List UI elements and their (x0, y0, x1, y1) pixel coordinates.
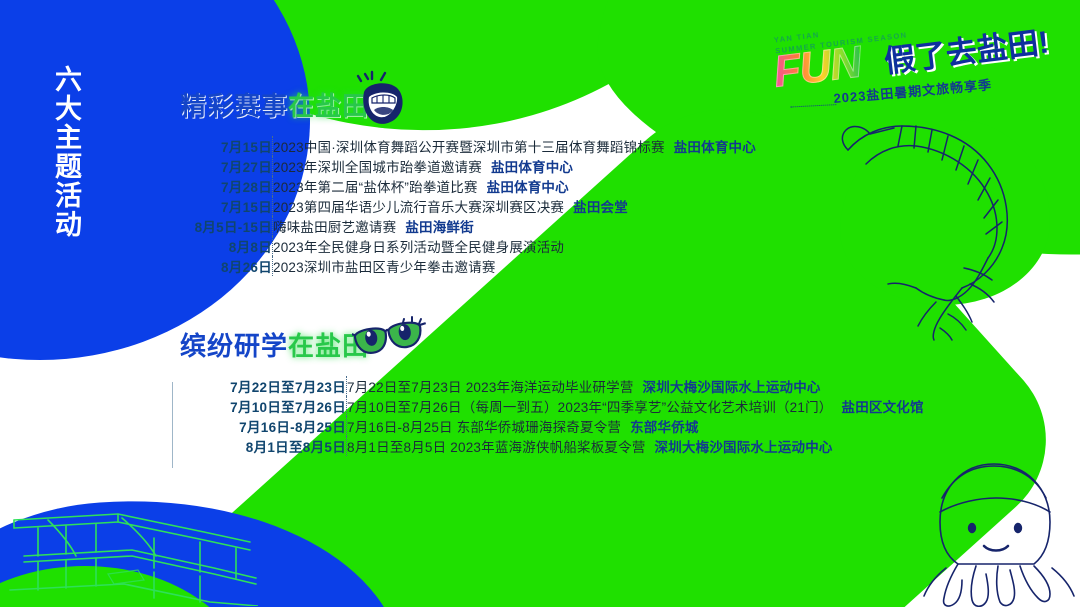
page-title-vertical: 六大主题活动 (20, 22, 86, 282)
blue-blob-bottom-left (0, 482, 408, 607)
section-study: 缤纷研学在盐田 (180, 326, 924, 456)
row-date: 7月15日 (180, 136, 272, 156)
octopus-line-art (918, 446, 1080, 607)
table-row: 8月5日-15日 嗨味盐田厨艺邀请赛盐田海鲜街 (180, 216, 756, 236)
row-date: 8月1日至8月5日 (180, 436, 346, 456)
row-date: 7月10日至7月26日 (180, 396, 346, 416)
row-description: 7月16日-8月25日 东部华侨城珊海探奇夏令营东部华侨城 (347, 416, 924, 436)
table-row: 7月10日至7月26日 7月10日至7月26日（每周一到五）2023年“四季享艺… (180, 396, 924, 416)
section-games: 精彩赛事在盐田 (180, 86, 756, 276)
row-date: 8月26日 (180, 256, 272, 276)
row-description: 2023深圳市盐田区青少年拳击邀请赛 (273, 256, 756, 276)
row-description: 2023年第二届“盐体杯”跆拳道比赛盐田体育中心 (273, 176, 756, 196)
green-blob-mid-right (840, 120, 1050, 305)
row-description: 嗨味盐田厨艺邀请赛盐田海鲜街 (273, 216, 756, 236)
row-description: 7月10日至7月26日（每周一到五）2023年“四季享艺”公益文化艺术培训（21… (347, 396, 924, 416)
row-venue: 盐田体育中心 (491, 160, 573, 175)
row-venue: 盐田会堂 (573, 200, 628, 215)
row-date: 8月8日 (180, 236, 272, 256)
table-row: 7月16日-8月25日 7月16日-8月25日 东部华侨城珊海探奇夏令营东部华侨… (180, 416, 924, 436)
row-venue: 盐田区文化馆 (842, 400, 924, 415)
table-row: 7月28日 2023年第二届“盐体杯”跆拳道比赛盐田体育中心 (180, 176, 756, 196)
row-description: 8月1日至8月5日 2023年蓝海游侠帆船桨板夏令营深圳大梅沙国际水上运动中心 (347, 436, 924, 456)
row-desc-text: 7月16日-8月25日 东部华侨城珊海探奇夏令营 (347, 420, 621, 435)
section-games-title-prefix: 精彩赛事 (180, 91, 288, 121)
row-venue: 盐田海鲜街 (405, 220, 474, 235)
row-date: 7月27日 (180, 156, 272, 176)
row-description: 2023中国·深圳体育舞蹈公开赛暨深圳市第十三届体育舞蹈锦标赛盐田体育中心 (273, 136, 756, 156)
row-description: 7月22日至7月23日 2023年海洋运动毕业研学营深圳大梅沙国际水上运动中心 (347, 376, 924, 396)
study-left-rail (172, 382, 173, 468)
event-logo: YAN TIAN SUMMER TOURISM SEASON FUN 假了去盐田… (765, 0, 1075, 132)
row-description: 2023第四届华语少儿流行音乐大赛深圳赛区决赛盐田会堂 (273, 196, 756, 216)
row-date: 7月22日至7月23日 (180, 376, 346, 396)
sunglasses-icon (352, 316, 432, 360)
row-date: 8月5日-15日 (180, 216, 272, 236)
table-row: 8月1日至8月5日 8月1日至8月5日 2023年蓝海游侠帆船桨板夏令营深圳大梅… (180, 436, 924, 456)
poster-canvas: 六大主题活动 YAN TIAN SUMMER TOURISM SEASON FU… (0, 0, 1080, 607)
row-venue: 深圳大梅沙国际水上运动中心 (655, 440, 833, 455)
section-games-header: 精彩赛事在盐田 (180, 86, 756, 130)
row-description: 2023年全民健身日系列活动暨全民健身展演活动 (273, 236, 756, 256)
section-games-title: 精彩赛事在盐田 (180, 86, 369, 123)
row-desc-text: 2023深圳市盐田区青少年拳击邀请赛 (273, 260, 496, 275)
table-row: 7月22日至7月23日 7月22日至7月23日 2023年海洋运动毕业研学营深圳… (180, 376, 924, 396)
row-desc-text: 2023年第二届“盐体杯”跆拳道比赛 (273, 180, 478, 195)
row-desc-text: 7月10日至7月26日（每周一到五）2023年“四季享艺”公益文化艺术培训（21… (347, 400, 833, 415)
study-table: 7月22日至7月23日 7月22日至7月23日 2023年海洋运动毕业研学营深圳… (180, 376, 924, 456)
row-desc-text: 2023年全民健身日系列活动暨全民健身展演活动 (273, 240, 564, 255)
row-date: 7月16日-8月25日 (180, 416, 346, 436)
row-desc-text: 嗨味盐田厨艺邀请赛 (273, 220, 396, 235)
section-study-title: 缤纷研学在盐田 (180, 326, 369, 363)
table-row: 7月15日 2023第四届华语少儿流行音乐大赛深圳赛区决赛盐田会堂 (180, 196, 756, 216)
table-row: 8月8日 2023年全民健身日系列活动暨全民健身展演活动 (180, 236, 756, 256)
open-mouth-icon (350, 70, 412, 128)
row-venue: 深圳大梅沙国际水上运动中心 (643, 380, 821, 395)
row-desc-text: 7月22日至7月23日 2023年海洋运动毕业研学营 (347, 380, 634, 395)
section-study-header: 缤纷研学在盐田 (180, 326, 924, 370)
study-table-body: 7月22日至7月23日 7月22日至7月23日 2023年海洋运动毕业研学营深圳… (180, 376, 924, 456)
row-venue: 盐田体育中心 (487, 180, 569, 195)
games-table: 7月15日 2023中国·深圳体育舞蹈公开赛暨深圳市第十三届体育舞蹈锦标赛盐田体… (180, 136, 756, 276)
table-row: 8月26日 2023深圳市盐田区青少年拳击邀请赛 (180, 256, 756, 276)
row-venue: 东部华侨城 (630, 420, 699, 435)
row-desc-text: 2023第四届华语少儿流行音乐大赛深圳赛区决赛 (273, 200, 564, 215)
shrimp-line-art (836, 92, 1080, 342)
green-blob-bottom-left (0, 566, 250, 607)
pavilion-line-art (4, 498, 258, 606)
row-description: 2023年深圳全国城市跆拳道邀请赛盐田体育中心 (273, 156, 756, 176)
logo-chinese: 假了去盐田! (881, 16, 1051, 81)
games-table-body: 7月15日 2023中国·深圳体育舞蹈公开赛暨深圳市第十三届体育舞蹈锦标赛盐田体… (180, 136, 756, 276)
row-desc-text: 8月1日至8月5日 2023年蓝海游侠帆船桨板夏令营 (347, 440, 646, 455)
row-date: 7月15日 (180, 196, 272, 216)
table-row: 7月15日 2023中国·深圳体育舞蹈公开赛暨深圳市第十三届体育舞蹈锦标赛盐田体… (180, 136, 756, 156)
row-date: 7月28日 (180, 176, 272, 196)
row-venue: 盐田体育中心 (674, 140, 756, 155)
row-desc-text: 2023年深圳全国城市跆拳道邀请赛 (273, 160, 482, 175)
table-row: 7月27日 2023年深圳全国城市跆拳道邀请赛盐田体育中心 (180, 156, 756, 176)
section-study-title-prefix: 缤纷研学 (180, 331, 288, 361)
logo-divider (790, 104, 836, 107)
row-desc-text: 2023中国·深圳体育舞蹈公开赛暨深圳市第十三届体育舞蹈锦标赛 (273, 140, 665, 155)
